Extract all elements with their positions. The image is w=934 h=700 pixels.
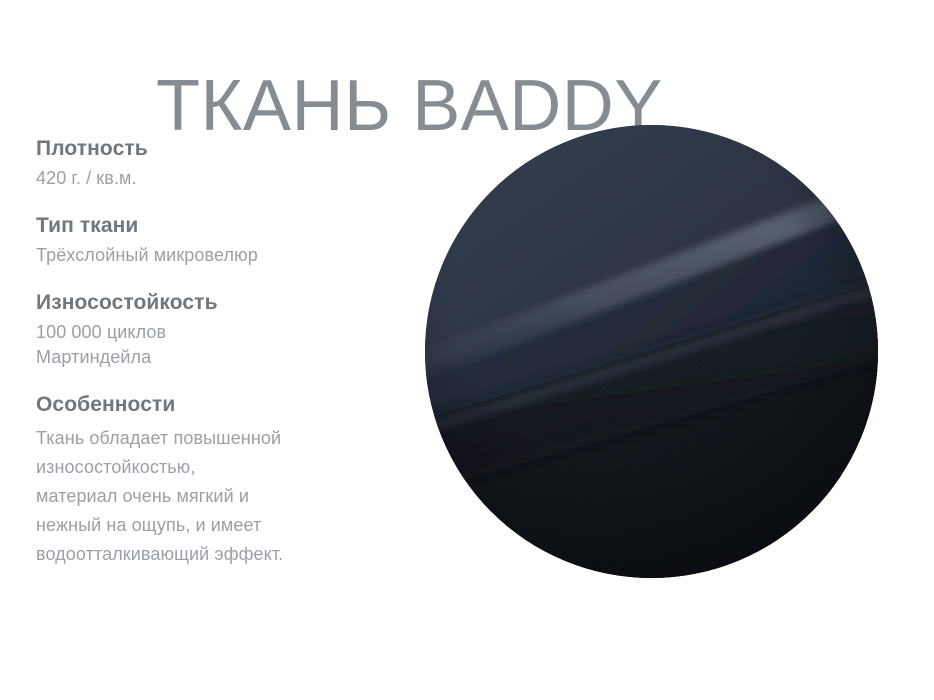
spec-block-density: Плотность 420 г. / кв.м. — [36, 136, 396, 191]
fabric-swatch-photo — [425, 125, 878, 578]
spec-value-wear-resistance: 100 000 циклов Мартиндейла — [36, 320, 396, 370]
spec-value-density: 420 г. / кв.м. — [36, 166, 396, 191]
spec-block-wear-resistance: Износостойкость 100 000 циклов Мартиндей… — [36, 290, 396, 370]
spec-block-fabric-type: Тип ткани Трёхслойный микровелюр — [36, 213, 396, 268]
spec-heading-features: Особенности — [36, 392, 396, 418]
fabric-info-slide: ТКАНЬ BADDY Плотность 420 г. / кв.м. Тип… — [0, 0, 934, 700]
spec-heading-density: Плотность — [36, 136, 396, 162]
fabric-photo-graphic — [425, 125, 878, 578]
specification-list: Плотность 420 г. / кв.м. Тип ткани Трёхс… — [36, 136, 396, 569]
spec-heading-wear-resistance: Износостойкость — [36, 290, 396, 316]
spec-heading-fabric-type: Тип ткани — [36, 213, 396, 239]
spec-block-features: Особенности Ткань обладает повышенной из… — [36, 392, 396, 569]
spec-value-features: Ткань обладает повышенной износостойкост… — [36, 424, 396, 569]
spec-value-fabric-type: Трёхслойный микровелюр — [36, 243, 396, 268]
